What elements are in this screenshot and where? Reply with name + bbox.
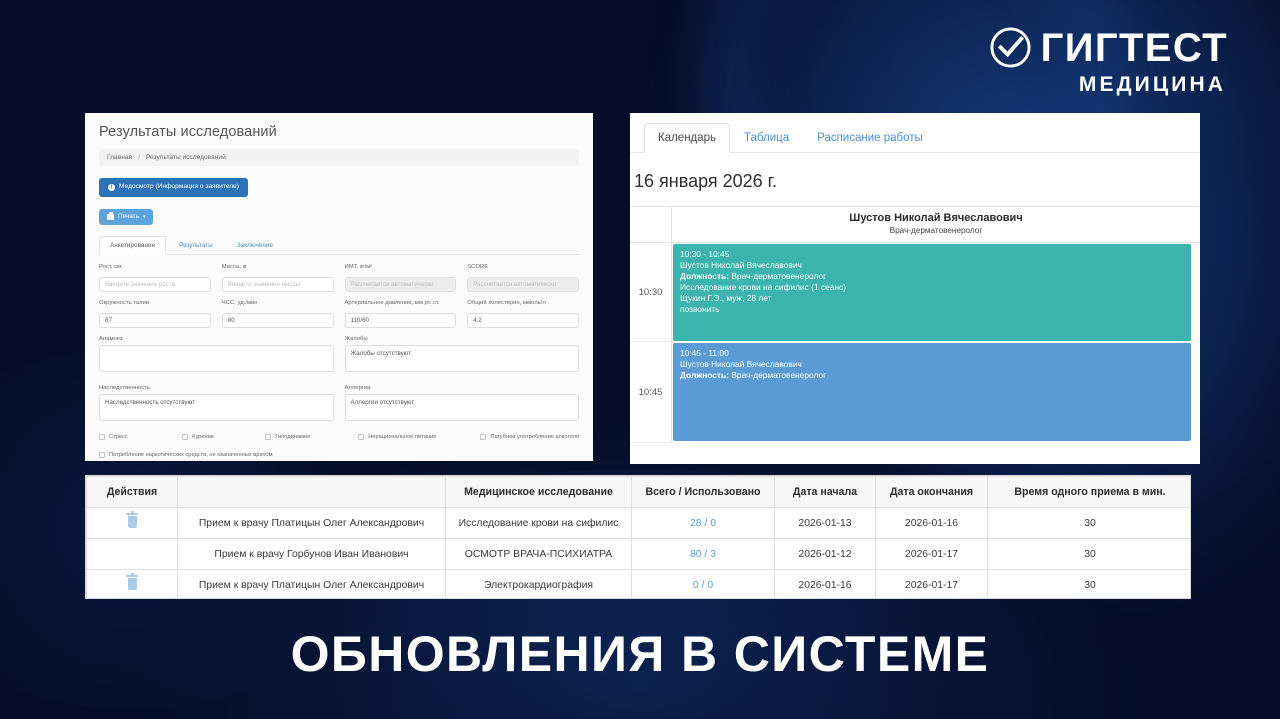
checkbox-label: Курение [192, 434, 214, 440]
calendar-tabs: Календарь Таблица Расписание работы [630, 113, 1200, 153]
checkbox-label: Потребление наркотических средств, не на… [109, 452, 273, 458]
time-gutter-header [630, 207, 671, 243]
print-button-label: Печать [118, 214, 139, 220]
print-button[interactable]: Печать ▾ [99, 209, 153, 225]
cell-date-start: 2026-01-13 [775, 508, 876, 539]
field-waist: Окружность талии [99, 300, 211, 328]
checkbox-label: Пагубное употребление алкоголя [490, 434, 579, 440]
checkbox-box[interactable] [358, 434, 364, 440]
tab-zaklyuchenie[interactable]: Заключение [226, 236, 284, 255]
field-waist-label: Окружность талии [99, 300, 211, 306]
event-position-value: Врач-дерматовенеролог [731, 271, 826, 281]
brand-logo-row: ГИГТЕСТ [989, 26, 1228, 69]
calendar-date-title: 16 января 2026 г. [634, 153, 1200, 206]
cell-duration: 30 [988, 539, 1192, 570]
col-appointment [178, 477, 446, 508]
breadcrumb-current: Результаты исследований [146, 154, 226, 161]
bmi-input [345, 277, 457, 292]
fields-row-2: Окружность талии ЧСС, уд./мин Артериальн… [99, 300, 579, 328]
trash-icon[interactable] [128, 578, 137, 590]
cell-actions [87, 570, 178, 600]
breadcrumb: Главная / Результаты исследований [99, 149, 579, 166]
textareas-row-1: Анамнез Жалобы [99, 336, 579, 377]
field-complaints-label: Жалобы [345, 336, 580, 342]
height-input[interactable] [99, 277, 211, 292]
table-head: Действия Медицинское исследование Всего … [87, 477, 1192, 508]
fields-row-1: Рост, см Масса, кг ИМТ, кг/м² SCORE [99, 264, 579, 292]
field-bloodpressure: Артериальное давление, мм рт. ст. [345, 300, 457, 328]
tab-table[interactable]: Таблица [730, 123, 803, 153]
risk-factors-row-1: Стресс Курение Гиподинамия Нерационально… [99, 434, 579, 440]
field-cholesterol: Общий холестерин, ммоль/л [467, 300, 579, 328]
risk-factors-row-2: Потребление наркотических средств, не на… [99, 452, 579, 458]
breadcrumb-home[interactable]: Главная [107, 154, 132, 161]
col-actions: Действия [87, 477, 178, 508]
brand-name: ГИГТЕСТ [1041, 28, 1228, 68]
checkbox-box[interactable] [182, 434, 188, 440]
event-note: позвонить [680, 304, 1184, 315]
field-allergies: Аллергии [345, 385, 580, 426]
event-time-range: 10:30 - 10:45 [680, 249, 1184, 260]
col-study: Медицинское исследование [446, 477, 632, 508]
mass-input[interactable] [222, 277, 334, 292]
brand-subtitle: МЕДИЦИНА [1079, 74, 1226, 95]
time-gutter: 10:30 10:45 [630, 207, 672, 443]
trash-icon[interactable] [128, 516, 137, 528]
info-circle-icon: i [108, 184, 115, 191]
event-patient: Щукин Г.Э., муж, 28 лет [680, 293, 1184, 304]
complaints-textarea[interactable] [345, 345, 580, 372]
table-row: Прием к врачу Платицын Олег Александрови… [87, 508, 1192, 539]
field-anamnesis: Анамнез [99, 336, 334, 377]
checkbox-stress[interactable]: Стресс [99, 434, 182, 440]
tab-calendar[interactable]: Календарь [644, 123, 730, 153]
services-table: Действия Медицинское исследование Всего … [86, 476, 1191, 599]
cell-appointment: Прием к врачу Горбунов Иван Иванович [178, 539, 446, 570]
checkbox-drugs[interactable]: Потребление наркотических средств, не на… [99, 452, 273, 458]
col-date-end: Дата окончания [876, 477, 988, 508]
banner-headline: ОБНОВЛЕНИЯ В СИСТЕМЕ [0, 625, 1280, 683]
field-anamnesis-label: Анамнез [99, 336, 334, 342]
cell-duration: 30 [988, 508, 1192, 539]
breadcrumb-separator: / [138, 154, 140, 161]
cell-total-used: 80 / 3 [632, 539, 775, 570]
field-mass-label: Масса, кг [222, 264, 334, 270]
cell-study: Электрокардиография [446, 570, 632, 600]
field-complaints: Жалобы [345, 336, 580, 377]
field-allergies-label: Аллергии [345, 385, 580, 391]
heredity-textarea[interactable] [99, 394, 334, 421]
event-position: Должность: Врач-дерматовенеролог [680, 271, 1184, 282]
total-value[interactable]: 28 [690, 518, 702, 529]
field-score-label: SCORE [467, 264, 579, 270]
field-heredity: Наследственность [99, 385, 334, 426]
slash: / [702, 549, 711, 560]
total-value[interactable]: 80 [690, 549, 702, 560]
cell-actions [87, 508, 178, 539]
score-input [467, 277, 579, 292]
checkbox-poor-nutrition[interactable]: Нерациональное питание [358, 434, 480, 440]
table-header-row: Действия Медицинское исследование Всего … [87, 477, 1192, 508]
research-results-panel: Результаты исследований Главная / Резуль… [85, 113, 593, 461]
used-value[interactable]: 0 [710, 518, 716, 529]
field-bmi: ИМТ, кг/м² [345, 264, 457, 292]
table-row: Прием к врачу Платицын Олег Александрови… [87, 570, 1192, 600]
bloodpressure-input[interactable] [345, 313, 457, 328]
cell-study: ОСМОТР ВРАЧА-ПСИХИАТРА [446, 539, 632, 570]
checkbox-alcohol[interactable]: Пагубное употребление алкоголя [480, 434, 579, 440]
checkbox-label: Стресс [109, 434, 128, 440]
doctor-header: Шустов Николай Вячеславович Врач-дермато… [672, 207, 1200, 243]
time-slot-1045: 10:45 [630, 342, 671, 443]
cell-study: Исследование крови на сифилис [446, 508, 632, 539]
event-doctor-name: Шустов Николай Вячеславович [680, 359, 1184, 370]
checkbox-box[interactable] [265, 434, 271, 440]
print-button-row: Печать ▾ [99, 207, 579, 225]
cell-date-end: 2026-01-16 [876, 508, 988, 539]
checkbox-hypodynamia[interactable]: Гиподинамия [265, 434, 358, 440]
calendar-events: 10:30 - 10:45 Шустов Николай Вячеславови… [672, 243, 1200, 441]
event-service: Исследование крови на сифилис (1 сеанс) [680, 282, 1184, 293]
table-body: Прием к врачу Платицын Олег Александрови… [87, 508, 1192, 600]
calendar-grid: 10:30 10:45 Шустов Николай Вячеславович … [630, 206, 1200, 443]
chevron-down-icon: ▾ [143, 215, 146, 220]
checkbox-box[interactable] [99, 452, 105, 458]
form-fields: Рост, см Масса, кг ИМТ, кг/м² SCORE Окру… [99, 255, 579, 461]
field-heartrate-label: ЧСС, уд./мин [222, 300, 334, 306]
calendar-column: Шустов Николай Вячеславович Врач-дермато… [672, 207, 1200, 443]
cell-date-end: 2026-01-17 [876, 539, 988, 570]
time-slot-1030: 10:30 [630, 243, 671, 342]
event-position-label: Должность: [680, 271, 729, 281]
appointment-event-blue[interactable]: 10:45 - 11:00 Шустов Николай Вячеславови… [673, 343, 1191, 441]
field-height: Рост, см [99, 264, 211, 292]
event-doctor-name: Шустов Николай Вячеславович [680, 260, 1184, 271]
textareas-row-2: Наследственность Аллергии [99, 385, 579, 426]
cell-duration: 30 [988, 570, 1192, 600]
allergies-textarea[interactable] [345, 394, 580, 421]
heartrate-input[interactable] [222, 313, 334, 328]
checkbox-smoking[interactable]: Курение [182, 434, 265, 440]
event-position-label: Должность: [680, 370, 729, 380]
cell-total-used: 0 / 0 [632, 570, 775, 600]
cell-appointment: Прием к врачу Платицын Олег Александрови… [178, 570, 446, 600]
waist-input[interactable] [99, 313, 211, 328]
event-position: Должность: Врач-дерматовенеролог [680, 370, 1184, 381]
field-cholesterol-label: Общий холестерин, ммоль/л [467, 300, 579, 306]
used-value[interactable]: 3 [710, 549, 716, 560]
check-circle-icon [989, 26, 1032, 69]
field-height-label: Рост, см [99, 264, 211, 270]
form-tabs: Анкетирование Результаты Заключение [99, 235, 579, 255]
slash: / [702, 518, 711, 529]
doctor-name: Шустов Николай Вячеславович [849, 212, 1022, 226]
cell-date-end: 2026-01-17 [876, 570, 988, 600]
appointment-event-green[interactable]: 10:30 - 10:45 Шустов Николай Вячеславови… [673, 244, 1191, 341]
tab-anketirovanie[interactable]: Анкетирование [99, 236, 166, 255]
col-date-start: Дата начала [775, 477, 876, 508]
schedule-panel: Календарь Таблица Расписание работы 16 я… [630, 113, 1200, 464]
tab-work-schedule[interactable]: Расписание работы [803, 123, 937, 153]
table-row: Прием к врачу Горбунов Иван Иванович ОСМ… [87, 539, 1192, 570]
cell-actions [87, 539, 178, 570]
services-table-panel: Действия Медицинское исследование Всего … [85, 475, 1191, 599]
field-bloodpressure-label: Артериальное давление, мм рт. ст. [345, 300, 457, 306]
cholesterol-input[interactable] [467, 313, 579, 328]
field-score: SCORE [467, 264, 579, 292]
brand-logo: ГИГТЕСТ МЕДИЦИНА [989, 26, 1228, 95]
print-icon [107, 214, 114, 220]
event-time-range: 10:45 - 11:00 [680, 348, 1184, 359]
cell-date-start: 2026-01-12 [775, 539, 876, 570]
checkbox-label: Гиподинамия [275, 434, 310, 440]
cell-appointment: Прием к врачу Платицын Олег Александрови… [178, 508, 446, 539]
event-position-value: Врач-дерматовенеролог [731, 370, 826, 380]
col-total-used: Всего / Использовано [632, 477, 775, 508]
field-heredity-label: Наследственность [99, 385, 334, 391]
cell-total-used: 28 / 0 [632, 508, 775, 539]
field-mass: Масса, кг [222, 264, 334, 292]
medexam-button-label: Медосмотр (Информация о заявителе) [119, 184, 239, 191]
page-title: Результаты исследований [99, 124, 579, 140]
field-heartrate: ЧСС, уд./мин [222, 300, 334, 328]
medexam-button[interactable]: i Медосмотр (Информация о заявителе) [99, 178, 248, 197]
tab-rezultaty[interactable]: Результаты [168, 236, 224, 255]
checkbox-label: Нерациональное питание [368, 434, 436, 440]
field-bmi-label: ИМТ, кг/м² [345, 264, 457, 270]
doctor-role: Врач-дерматовенеролог [890, 226, 983, 237]
medexam-button-row: i Медосмотр (Информация о заявителе) [99, 175, 579, 197]
checkbox-box[interactable] [99, 434, 105, 440]
anamnesis-textarea[interactable] [99, 345, 334, 372]
col-duration: Время одного приема в мин. [988, 477, 1192, 508]
cell-date-start: 2026-01-16 [775, 570, 876, 600]
used-value[interactable]: 0 [707, 580, 713, 591]
checkbox-box[interactable] [480, 434, 486, 440]
